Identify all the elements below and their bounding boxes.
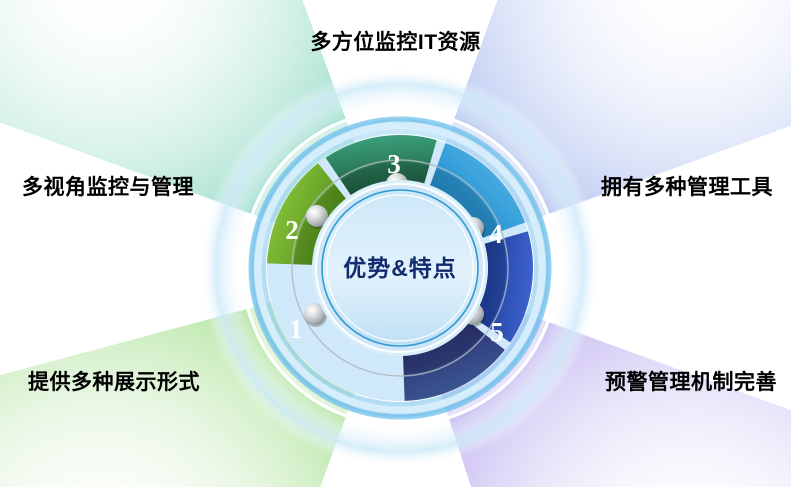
segment-number-5: 5 [490,317,504,347]
caption-left-upper: 多视角监控与管理 [22,171,194,201]
center-label: 优势&特点 [343,255,457,281]
caption-right-upper: 拥有多种管理工具 [601,171,773,201]
segment-number-3: 3 [387,149,401,179]
segment-number-4: 4 [489,219,503,249]
caption-right-lower: 预警管理机制完善 [605,366,777,396]
infographic-canvas: 12345 优势&特点 多方位监控IT资源 多视角监控与管理 提供多种展示形式 … [0,0,791,487]
wheel-diagram: 12345 优势&特点 [0,0,791,487]
caption-top: 多方位监控IT资源 [0,26,791,56]
caption-left-lower: 提供多种展示形式 [28,366,200,396]
segment-number-2: 2 [285,215,299,245]
segment-number-1: 1 [289,314,303,344]
